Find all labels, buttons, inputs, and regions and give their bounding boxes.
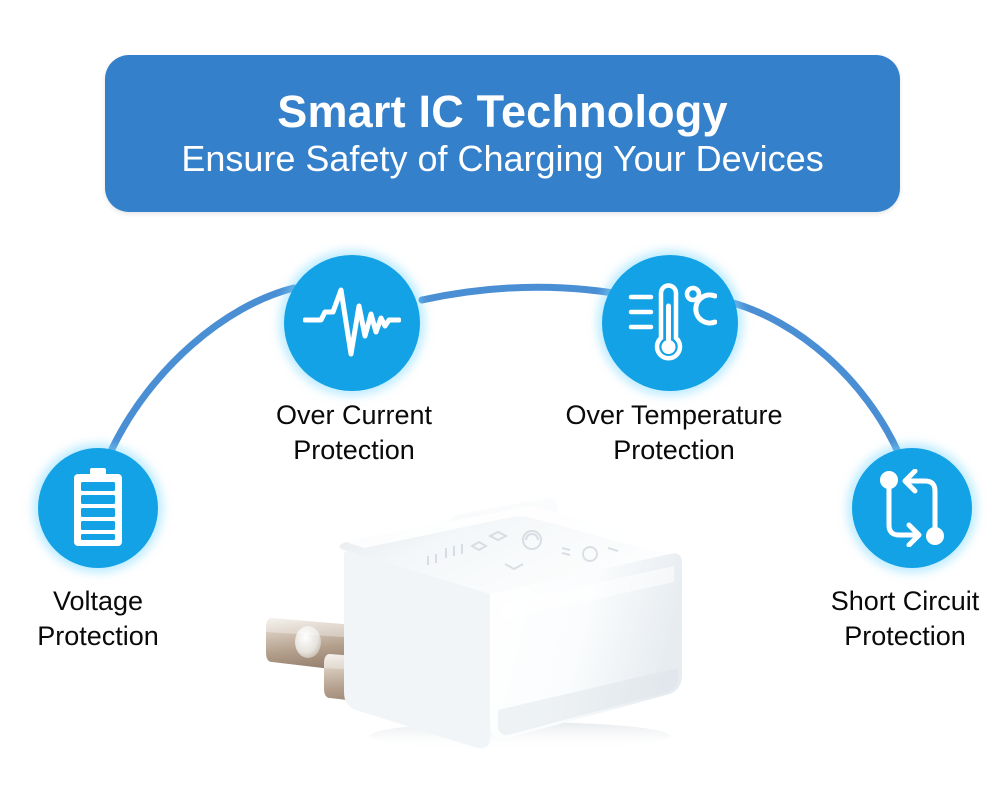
label-over-current: Over Current Protection	[206, 398, 502, 467]
banner-title: Smart IC Technology	[277, 88, 728, 136]
label-over-temperature-line1: Over Temperature	[526, 398, 822, 433]
label-short-circuit-line1: Short Circuit	[806, 584, 1004, 619]
infographic-canvas: Smart IC Technology Ensure Safety of Cha…	[0, 0, 1004, 794]
label-voltage-line2: Protection	[0, 619, 196, 654]
product-photo-charger	[250, 498, 720, 754]
label-over-temperature: Over Temperature Protection	[526, 398, 822, 467]
label-voltage-line1: Voltage	[0, 584, 196, 619]
banner-subtitle: Ensure Safety of Charging Your Devices	[181, 140, 823, 179]
over-current-circle	[284, 255, 420, 391]
waveform-pulse-icon	[303, 284, 401, 362]
feature-node-short-circuit[interactable]	[852, 448, 972, 568]
label-voltage: Voltage Protection	[0, 584, 196, 653]
battery-icon	[71, 468, 125, 548]
short-circuit-arrows-icon	[875, 469, 949, 547]
feature-node-over-temperature[interactable]	[602, 255, 738, 391]
over-temperature-circle	[602, 255, 738, 391]
label-over-current-line1: Over Current	[206, 398, 502, 433]
label-short-circuit-line2: Protection	[806, 619, 1004, 654]
label-short-circuit: Short Circuit Protection	[806, 584, 1004, 653]
feature-node-voltage[interactable]	[38, 448, 158, 568]
label-over-temperature-line2: Protection	[526, 433, 822, 468]
feature-node-over-current[interactable]	[284, 255, 420, 391]
voltage-circle	[38, 448, 158, 568]
thermometer-celsius-icon	[623, 280, 717, 366]
header-banner: Smart IC Technology Ensure Safety of Cha…	[105, 55, 900, 212]
label-over-current-line2: Protection	[206, 433, 502, 468]
short-circuit-circle	[852, 448, 972, 568]
